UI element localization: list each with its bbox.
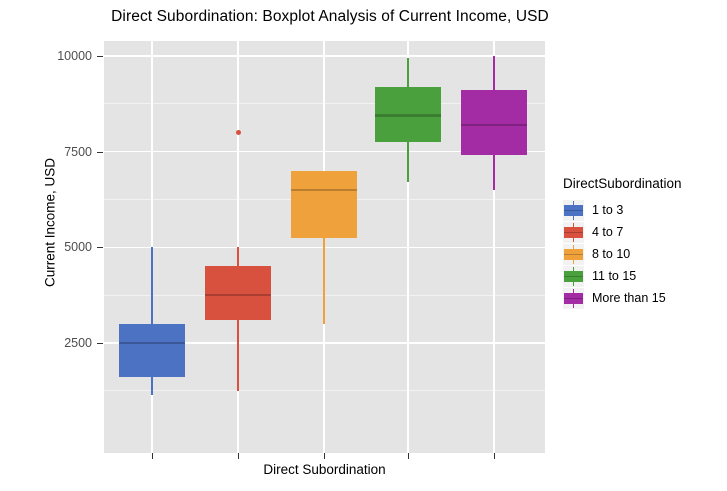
- x-axis-title: Direct Subordination: [104, 462, 545, 477]
- median-line: [205, 294, 271, 297]
- whisker-lower: [407, 142, 409, 182]
- legend-key-median: [564, 254, 583, 256]
- whisker-upper: [493, 56, 495, 90]
- legend-key-swatch: [563, 244, 584, 265]
- legend-key-median: [564, 276, 583, 278]
- whisker-lower: [151, 377, 153, 394]
- legend-item-label: 8 to 10: [592, 247, 630, 261]
- legend-item-label: 1 to 3: [592, 203, 623, 217]
- boxplot-box[interactable]: [291, 41, 357, 453]
- y-axis-tick-label: 5000: [32, 240, 92, 254]
- legend-key-swatch: [563, 288, 584, 309]
- legend-items: 1 to 34 to 78 to 1011 to 15More than 15: [563, 199, 723, 309]
- outlier-point[interactable]: [236, 130, 241, 135]
- median-line: [461, 124, 527, 127]
- x-axis-tick-mark: [152, 453, 153, 459]
- box-iqr-rect: [291, 171, 357, 238]
- chart-figure: Direct Subordination: Boxplot Analysis o…: [0, 0, 727, 491]
- legend-item-label: 4 to 7: [592, 225, 623, 239]
- y-axis-tick-labels: 10000750050002500: [28, 0, 92, 491]
- boxplot-box[interactable]: [375, 41, 441, 453]
- legend-title: DirectSubordination: [563, 176, 723, 191]
- x-axis-tick-mark: [324, 453, 325, 459]
- legend-key-swatch: [563, 222, 584, 243]
- legend-key-swatch: [563, 266, 584, 287]
- plot-panel: [104, 41, 545, 453]
- boxplot-box[interactable]: [205, 41, 271, 453]
- whisker-upper: [407, 58, 409, 87]
- box-iqr-rect: [119, 324, 185, 378]
- whisker-lower: [493, 155, 495, 189]
- x-axis-tick-mark: [408, 453, 409, 459]
- legend: DirectSubordination 1 to 34 to 78 to 101…: [563, 176, 723, 309]
- y-axis-tick-mark: [97, 247, 103, 248]
- median-line: [375, 114, 441, 117]
- legend-item[interactable]: More than 15: [563, 287, 723, 309]
- whisker-lower: [237, 320, 239, 391]
- boxplot-box[interactable]: [119, 41, 185, 453]
- legend-item[interactable]: 8 to 10: [563, 243, 723, 265]
- legend-key-median: [564, 298, 583, 300]
- legend-item[interactable]: 1 to 3: [563, 199, 723, 221]
- x-axis-tick-mark: [494, 453, 495, 459]
- legend-key-median: [564, 232, 583, 234]
- y-axis-tick-mark: [97, 56, 103, 57]
- whisker-upper: [151, 247, 153, 324]
- legend-item[interactable]: 4 to 7: [563, 221, 723, 243]
- median-line: [119, 342, 185, 345]
- chart-title: Direct Subordination: Boxplot Analysis o…: [0, 8, 660, 26]
- whisker-lower: [323, 238, 325, 324]
- y-axis-tick-mark: [97, 152, 103, 153]
- median-line: [291, 189, 357, 192]
- legend-key-swatch: [563, 200, 584, 221]
- y-axis-tick-label: 10000: [32, 49, 92, 63]
- whisker-upper: [237, 247, 239, 266]
- legend-item-label: 11 to 15: [592, 269, 636, 283]
- y-axis-tick-label: 2500: [32, 336, 92, 350]
- x-axis-tick-mark: [238, 453, 239, 459]
- y-axis-tick-label: 7500: [32, 145, 92, 159]
- legend-key-median: [564, 210, 583, 212]
- boxplot-box[interactable]: [461, 41, 527, 453]
- legend-item[interactable]: 11 to 15: [563, 265, 723, 287]
- y-axis-tick-mark: [97, 343, 103, 344]
- legend-item-label: More than 15: [592, 291, 666, 305]
